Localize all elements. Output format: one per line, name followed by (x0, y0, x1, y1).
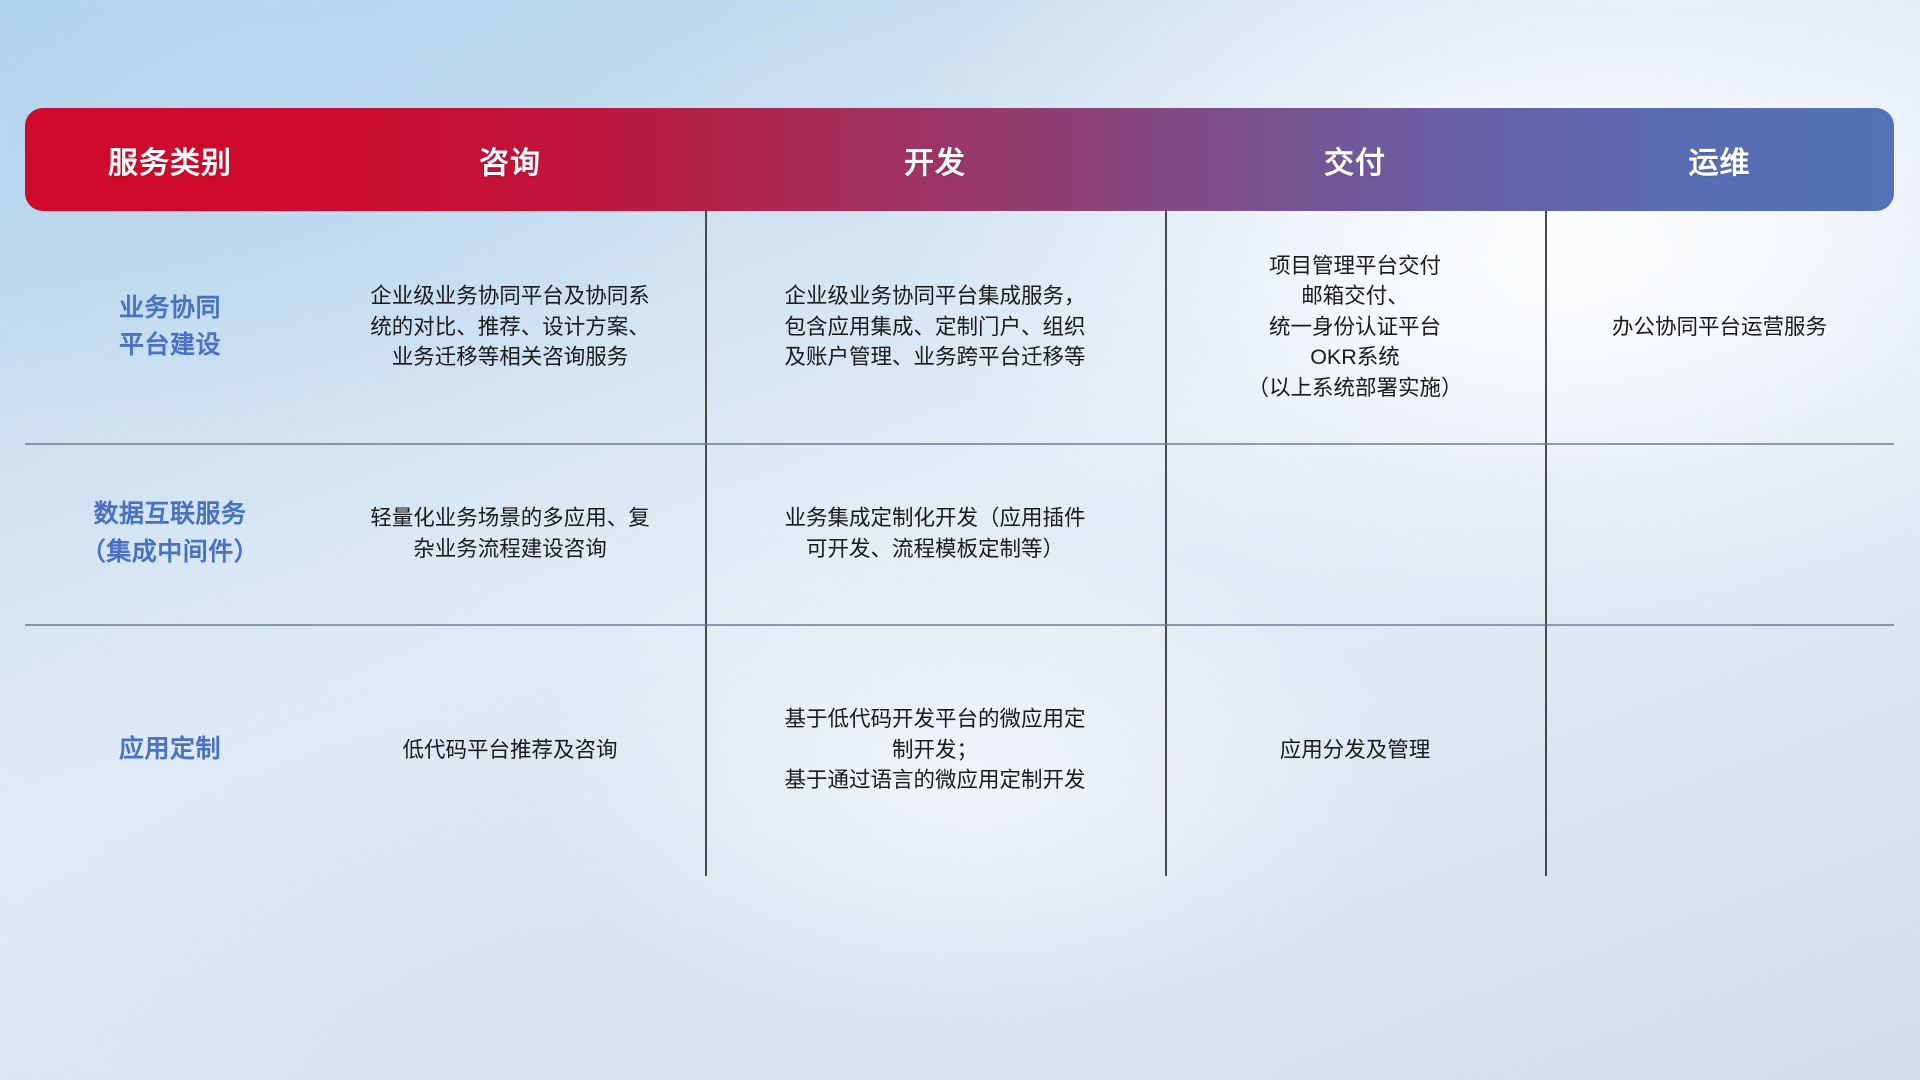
column-header-consulting: 咨询 (315, 138, 705, 182)
cell-delivery-3: 应用分发及管理 (1165, 624, 1545, 876)
table-row: 业务协同 平台建设 企业级业务协同平台及协同系 统的对比、推荐、设计方案、 业务… (25, 211, 1894, 443)
column-divider-1 (705, 211, 707, 876)
row-divider-2 (25, 624, 1894, 626)
table-body: 业务协同 平台建设 企业级业务协同平台及协同系 统的对比、推荐、设计方案、 业务… (25, 211, 1894, 876)
cell-development-1: 企业级业务协同平台集成服务， 包含应用集成、定制门户、组织 及账户管理、业务跨平… (705, 211, 1165, 443)
cell-development-2: 业务集成定制化开发（应用插件 可开发、流程模板定制等） (705, 443, 1165, 624)
column-header-delivery: 交付 (1165, 138, 1545, 182)
column-header-category: 服务类别 (25, 138, 315, 182)
cell-development-3: 基于低代码开发平台的微应用定 制开发； 基于通过语言的微应用定制开发 (705, 624, 1165, 876)
column-header-operations: 运维 (1545, 138, 1894, 182)
cell-delivery-2 (1165, 443, 1545, 624)
cell-delivery-1: 项目管理平台交付 邮箱交付、 统一身份认证平台 OKR系统 （以上系统部署实施） (1165, 211, 1545, 443)
column-divider-3 (1545, 211, 1547, 876)
cell-consulting-2: 轻量化业务场景的多应用、复 杂业务流程建设咨询 (315, 443, 705, 624)
cell-category-3: 应用定制 (25, 624, 315, 876)
table-row: 数据互联服务 （集成中间件） 轻量化业务场景的多应用、复 杂业务流程建设咨询 业… (25, 443, 1894, 624)
cell-operations-2 (1545, 443, 1894, 624)
cell-operations-1: 办公协同平台运营服务 (1545, 211, 1894, 443)
table-row: 应用定制 低代码平台推荐及咨询 基于低代码开发平台的微应用定 制开发； 基于通过… (25, 624, 1894, 876)
row-divider-1 (25, 443, 1894, 445)
column-header-development: 开发 (705, 138, 1165, 182)
cell-category-1: 业务协同 平台建设 (25, 211, 315, 443)
cell-consulting-3: 低代码平台推荐及咨询 (315, 624, 705, 876)
service-matrix-table: 服务类别 咨询 开发 交付 运维 业务协同 平台建设 企业级业务协同平台及协同系… (25, 108, 1894, 776)
cell-operations-3 (1545, 624, 1894, 876)
table-header-row: 服务类别 咨询 开发 交付 运维 (25, 108, 1894, 211)
cell-consulting-1: 企业级业务协同平台及协同系 统的对比、推荐、设计方案、 业务迁移等相关咨询服务 (315, 211, 705, 443)
column-divider-2 (1165, 211, 1167, 876)
cell-category-2: 数据互联服务 （集成中间件） (25, 443, 315, 624)
